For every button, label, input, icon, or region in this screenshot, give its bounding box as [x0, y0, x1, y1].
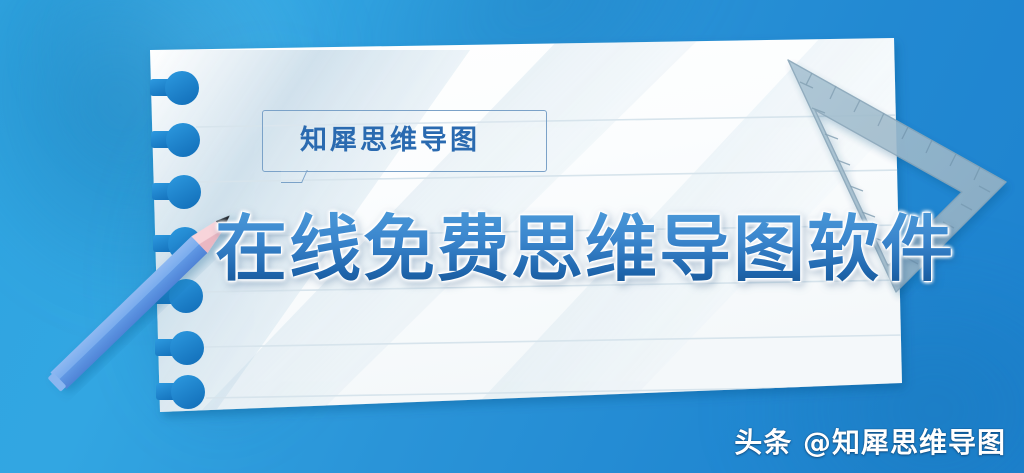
watermark-label: 头条 @知犀思维导图 — [734, 421, 1006, 461]
promo-banner: 知犀思维导图 在线免费思维导图软件 头条 @知犀思维导图 — [0, 0, 1024, 473]
main-title: 在线免费思维导图软件 — [215, 208, 955, 290]
speech-bubble-tail — [281, 170, 315, 192]
brand-label: 知犀思维导图 — [300, 124, 480, 158]
